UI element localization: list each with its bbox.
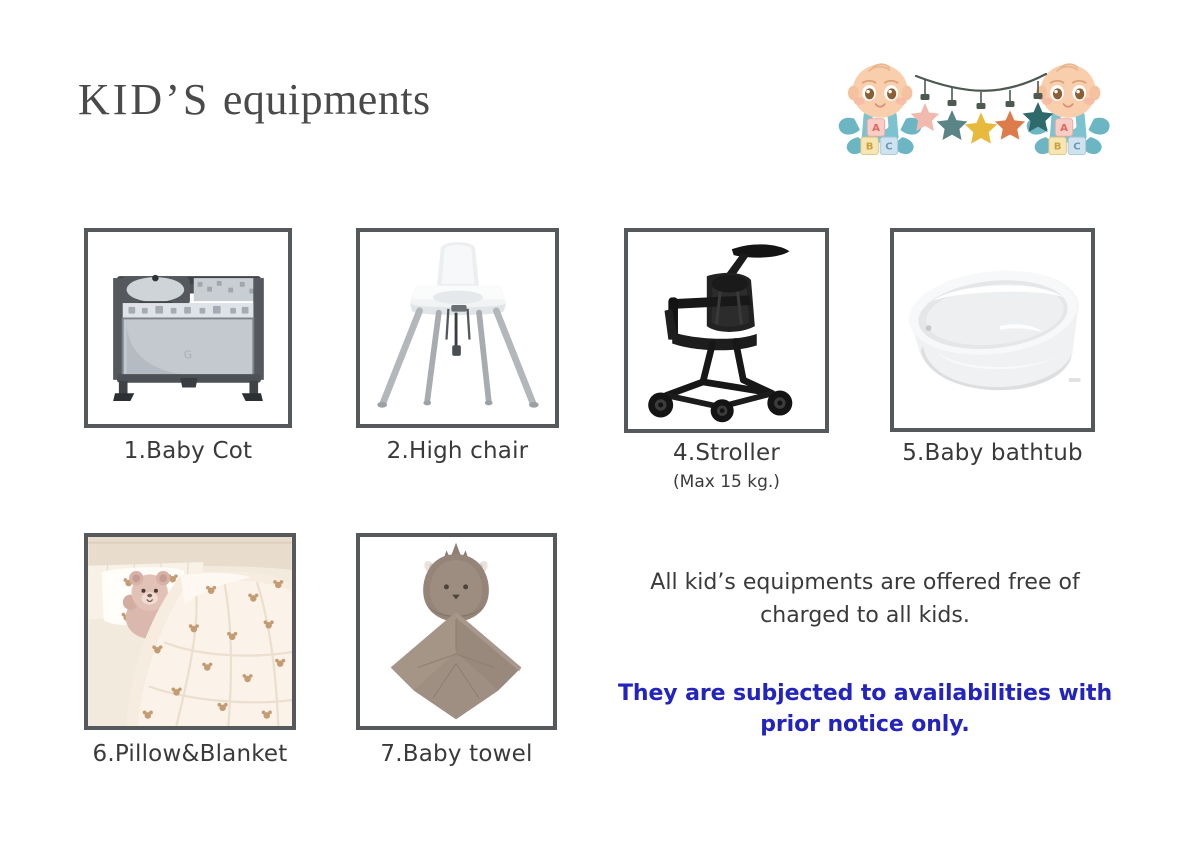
- star-2: [937, 87, 968, 140]
- caption-high-chair: 2.High chair: [387, 438, 529, 464]
- pillow-blanket-photo-frame: [84, 533, 296, 730]
- product-card-pillow-blanket[interactable]: 6.Pillow&Blanket: [84, 533, 296, 730]
- product-card-baby-bathtub[interactable]: 5.Baby bathtub: [890, 228, 1095, 432]
- page-title-strong: KID’S: [78, 75, 210, 124]
- product-card-high-chair[interactable]: 2.High chair: [356, 228, 559, 428]
- note-free-of-charge: All kid’s equipments are offered free of…: [618, 566, 1112, 632]
- subcaption-stroller-max-weight: (Max 15 kg.): [673, 472, 780, 492]
- page-title-light: equipments: [223, 75, 431, 124]
- baby-towel-photo-frame: [356, 533, 557, 730]
- baby-bathtub-photo-frame: [890, 228, 1095, 432]
- product-card-baby-cot[interactable]: G 1.Baby Cot: [84, 228, 292, 428]
- product-card-baby-towel[interactable]: 7.Baby towel: [356, 533, 557, 730]
- slide-canvas: KID’S equipments: [0, 0, 1200, 848]
- product-card-stroller[interactable]: 4.Stroller (Max 15 kg.): [624, 228, 829, 433]
- svg-text:G: G: [184, 350, 192, 362]
- baby-star-garland-decoration: A B C: [828, 48, 1120, 166]
- caption-baby-bathtub: 5.Baby bathtub: [902, 440, 1083, 466]
- baby-cot-photo-frame: G: [84, 228, 292, 428]
- note-availability-warning: They are subjected to availabilities wit…: [618, 678, 1112, 740]
- caption-baby-towel: 7.Baby towel: [380, 741, 532, 767]
- high-chair-photo-frame: [356, 228, 559, 428]
- page-title: KID’S equipments: [78, 74, 431, 125]
- caption-pillow-blanket: 6.Pillow&Blanket: [92, 741, 287, 767]
- caption-baby-cot: 1.Baby Cot: [124, 438, 253, 464]
- stroller-photo-frame: [624, 228, 829, 433]
- baby-left-icon: [839, 64, 922, 155]
- star-3: [965, 92, 997, 144]
- notes-block: All kid’s equipments are offered free of…: [618, 566, 1112, 740]
- caption-stroller: 4.Stroller: [673, 440, 780, 466]
- star-4: [995, 90, 1025, 140]
